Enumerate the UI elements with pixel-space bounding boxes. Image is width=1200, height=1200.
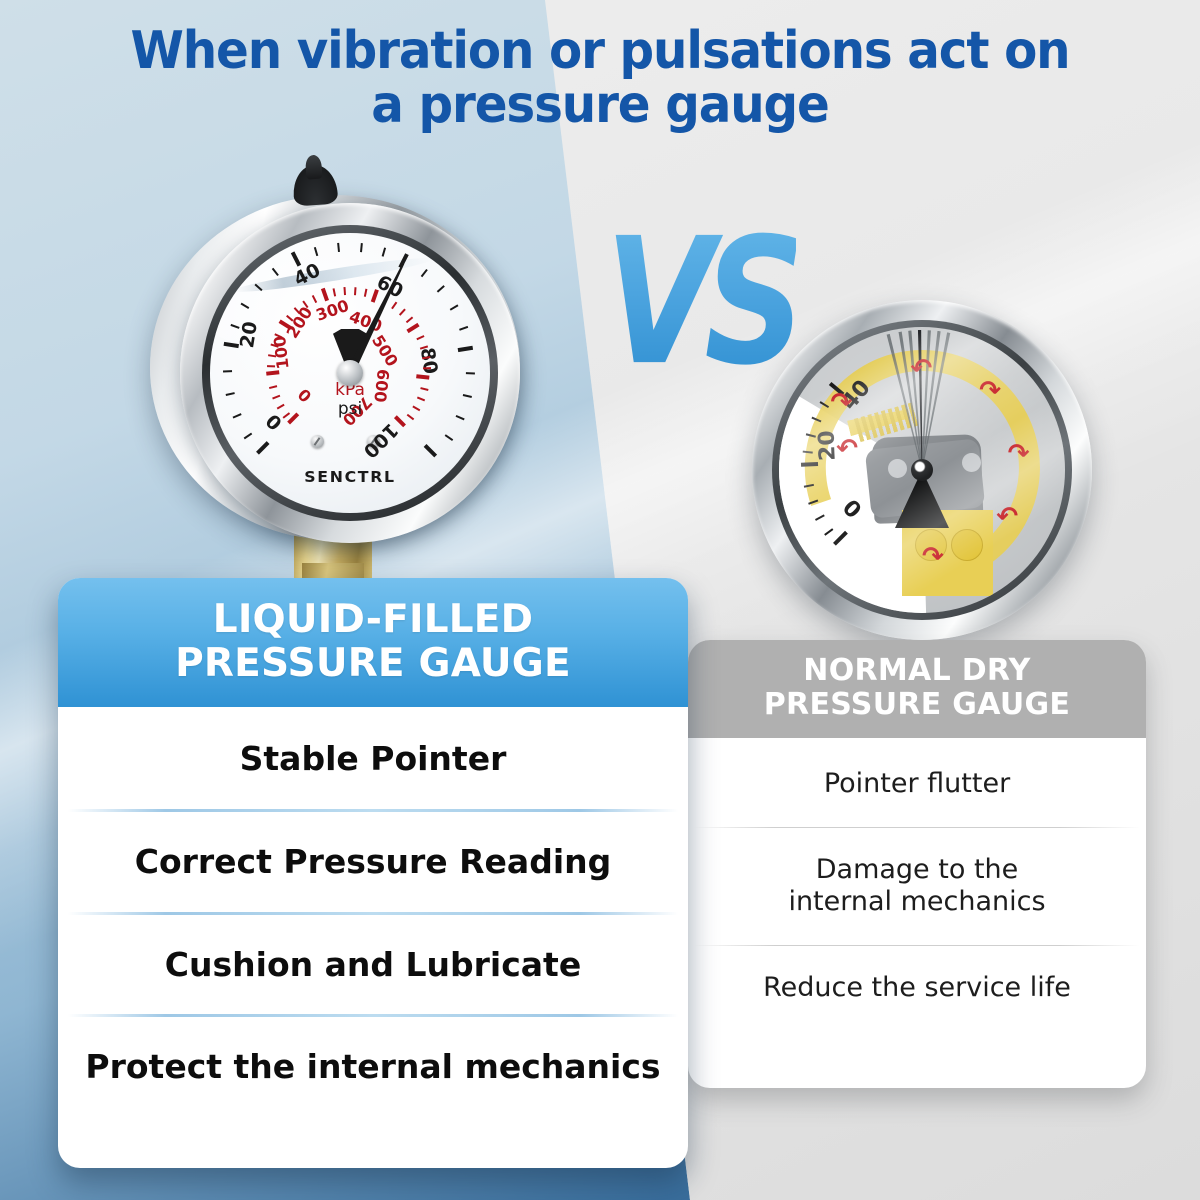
dial-kpa-major-tick <box>406 323 419 333</box>
unit-psi-label: psi <box>335 400 365 419</box>
dial-kpa-minor-tick <box>343 287 346 295</box>
vs-badge: VS <box>605 215 796 390</box>
dial-kpa-minor-tick <box>407 414 415 420</box>
vibration-arrow-icon: ↷ <box>979 378 1001 404</box>
vibration-arrow-icon: ↷ <box>830 390 852 416</box>
dial-kpa-minor-tick <box>423 367 431 369</box>
list-item: Cushion and Lubricate <box>58 915 688 1015</box>
dry-card-header-line-1: NORMAL DRY <box>698 654 1136 688</box>
liquid-card-header-line-2: PRESSURE GAUGE <box>68 642 678 686</box>
dial-kpa-label: 100 <box>270 335 293 370</box>
dial-kpa-minor-tick <box>420 387 428 391</box>
dial-psi-label: 80 <box>416 346 442 376</box>
dry-gauge-bezel: 02040↶↷↷↶↷↶↷ <box>752 300 1092 640</box>
dial-minor-tick <box>459 326 468 331</box>
dry-gauge-card-header: NORMAL DRY PRESSURE GAUGE <box>688 640 1146 738</box>
dial-major-tick <box>424 444 437 457</box>
liquid-filled-gauge-image: kPa psi SENCTRL 020406080100010020030040… <box>150 165 540 585</box>
dial-kpa-minor-tick <box>269 385 277 389</box>
vibration-arrow-icon: ↶ <box>996 504 1018 530</box>
dry-gauge-dial-face: 02040↶↷↷↶↷↶↷ <box>779 327 1065 613</box>
gauge-bezel: kPa psi SENCTRL 020406080100010020030040… <box>180 203 520 543</box>
list-item-line: Correct Pressure Reading <box>74 842 672 882</box>
gauge-unit-labels: kPa psi <box>335 381 365 419</box>
dry-dial-major-tick <box>801 462 818 467</box>
dial-kpa-major-tick <box>394 415 406 427</box>
list-item-line: Protect the internal mechanics <box>74 1047 672 1087</box>
dial-minor-tick <box>244 433 253 440</box>
gauge-vent-plug-icon <box>292 164 339 207</box>
dial-screw-left-icon <box>311 435 324 448</box>
dry-card-header-line-2: PRESSURE GAUGE <box>698 688 1136 722</box>
dial-minor-tick <box>450 304 459 310</box>
dial-kpa-minor-tick <box>399 308 406 315</box>
dry-gauge-pointer-hub <box>911 459 933 481</box>
list-item: Correct Pressure Reading <box>58 812 688 912</box>
dial-kpa-label: 600 <box>370 368 393 403</box>
list-item: Stable Pointer <box>58 709 688 809</box>
dry-gauge-cutaway-image: 02040↶↷↷↶↷↶↷ <box>752 300 1092 640</box>
dial-minor-tick <box>466 372 475 374</box>
gauge-dial-face: kPa psi SENCTRL 020406080100010020030040… <box>210 233 490 513</box>
movement-pillar-hole-right <box>962 453 981 472</box>
movement-pillar-hole-left <box>888 459 907 478</box>
gauge-brand-label: SENCTRL <box>304 468 396 486</box>
list-item: Protect the internal mechanics <box>58 1017 688 1117</box>
gauge-pointer-hub <box>337 360 363 386</box>
dial-kpa-label: 0 <box>294 385 315 406</box>
dial-major-tick <box>458 346 473 352</box>
dial-kpa-minor-tick <box>412 406 420 412</box>
list-item: Pointer flutter <box>688 742 1146 826</box>
title-line-2: a pressure gauge <box>42 78 1158 132</box>
list-item: Reduce the service life <box>688 946 1146 1030</box>
vibration-arrow-icon: ↶ <box>836 436 858 462</box>
dial-minor-tick <box>421 269 428 277</box>
dry-gauge-feature-list: Pointer flutterDamage to theinternal mec… <box>688 738 1146 1030</box>
dial-major-tick <box>256 441 269 454</box>
list-item-line: Damage to the <box>708 854 1126 886</box>
dial-minor-tick <box>445 434 454 441</box>
dial-psi-label: 20 <box>236 320 262 350</box>
dial-kpa-minor-tick <box>272 395 280 400</box>
liquid-card-header-line-1: LIQUID-FILLED <box>68 598 678 642</box>
vibration-arrow-icon: ↶ <box>911 356 933 382</box>
dial-kpa-major-tick <box>416 374 429 379</box>
dial-kpa-minor-tick <box>417 397 425 402</box>
vibration-arrow-icon: ↷ <box>922 544 944 570</box>
list-item-line: Reduce the service life <box>708 972 1126 1004</box>
page-title: When vibration or pulsations act on a pr… <box>42 24 1158 132</box>
title-line-1: When vibration or pulsations act on <box>131 21 1070 81</box>
dial-kpa-minor-tick <box>391 302 397 310</box>
dial-kpa-minor-tick <box>416 335 424 340</box>
dial-kpa-label: 500 <box>368 332 402 370</box>
list-item-line: Stable Pointer <box>74 739 672 779</box>
dial-minor-tick <box>463 394 472 398</box>
dial-psi-label: 100 <box>359 419 403 463</box>
socket-bolt-right <box>951 529 983 561</box>
dry-gauge-card: NORMAL DRY PRESSURE GAUGE Pointer flutte… <box>688 640 1146 1088</box>
liquid-gauge-feature-list: Stable PointerCorrect Pressure ReadingCu… <box>58 707 688 1116</box>
list-item-line: Cushion and Lubricate <box>74 945 672 985</box>
liquid-gauge-card-header: LIQUID-FILLED PRESSURE GAUGE <box>58 578 688 707</box>
dial-minor-tick <box>223 370 232 372</box>
vibration-arrow-icon: ↷ <box>1008 441 1030 467</box>
list-item-line: Pointer flutter <box>708 768 1126 800</box>
dial-psi-label: 0 <box>262 409 287 434</box>
dial-kpa-minor-tick <box>277 404 285 410</box>
dial-kpa-minor-tick <box>406 316 413 323</box>
dial-minor-tick <box>437 285 445 292</box>
dial-minor-tick <box>226 392 235 396</box>
dial-minor-tick <box>456 415 465 420</box>
dial-minor-tick <box>233 413 242 418</box>
liquid-gauge-card: LIQUID-FILLED PRESSURE GAUGE Stable Poin… <box>58 578 688 1168</box>
dial-kpa-major-tick <box>266 370 279 375</box>
list-item: Damage to theinternal mechanics <box>688 828 1146 945</box>
list-item-line: internal mechanics <box>708 886 1126 918</box>
